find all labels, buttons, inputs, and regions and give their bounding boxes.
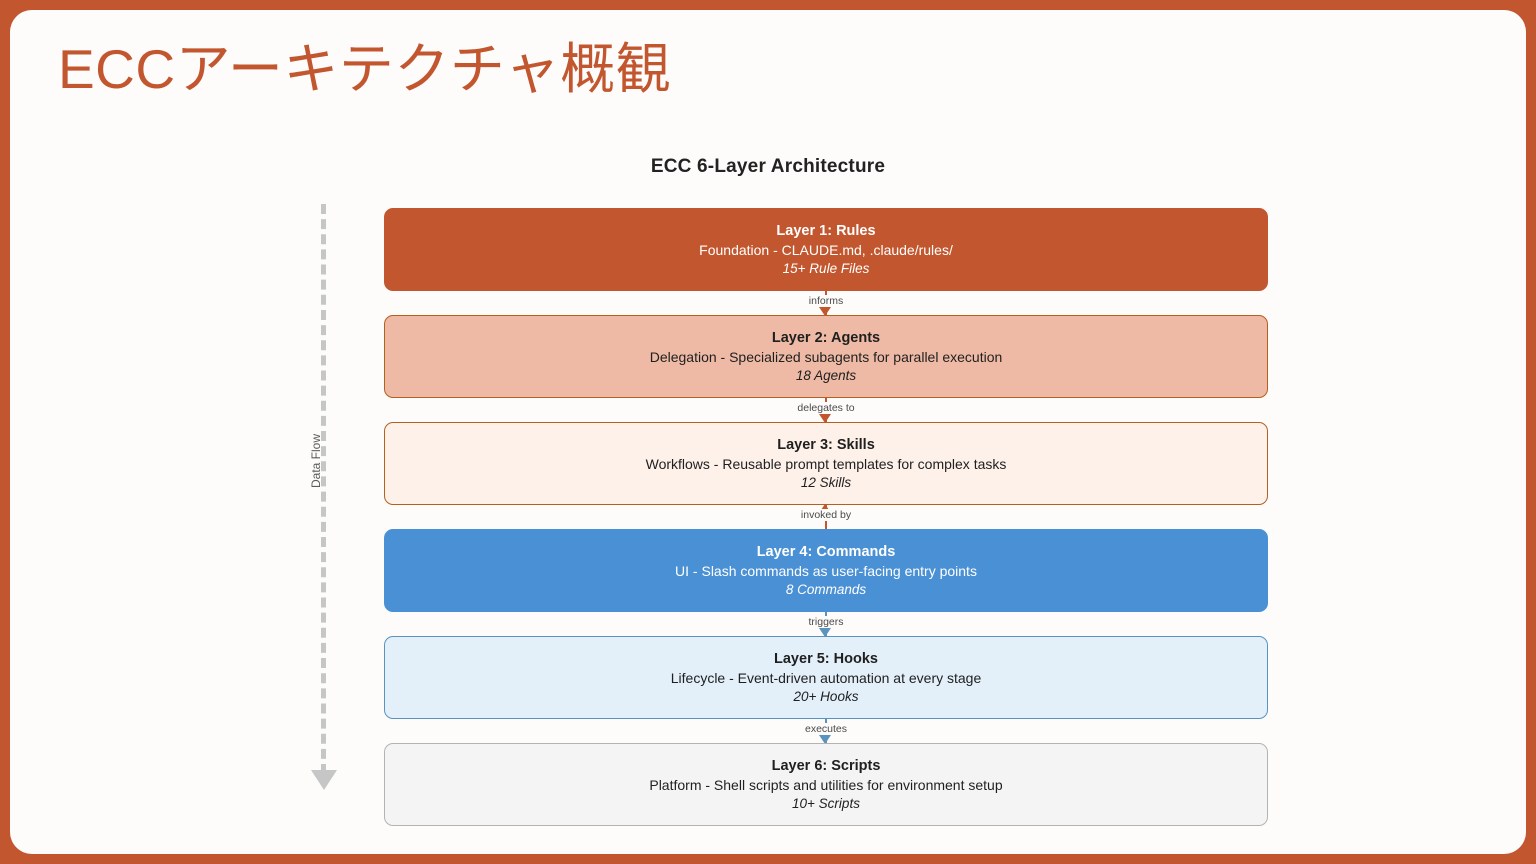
connector-label-text: executes: [801, 723, 851, 735]
connector-3: invoked by: [384, 505, 1268, 529]
layer-count: 12 Skills: [801, 474, 851, 492]
connector-4: triggers: [384, 612, 1268, 636]
layer-count: 20+ Hooks: [794, 688, 859, 706]
connector-5: executes: [384, 719, 1268, 743]
layer-box-2[interactable]: Layer 2: AgentsDelegation - Specialized …: [384, 315, 1268, 398]
layer-box-5[interactable]: Layer 5: HooksLifecycle - Event-driven a…: [384, 636, 1268, 719]
data-flow-arrow-icon: [311, 770, 337, 790]
connector-label: invoked by: [384, 509, 1268, 521]
figure-title: ECC 6-Layer Architecture: [10, 156, 1526, 178]
connector-label: triggers: [384, 616, 1268, 628]
layer-title: Layer 4: Commands: [757, 543, 896, 561]
layer-description: Delegation - Specialized subagents for p…: [650, 348, 1003, 366]
layer-description: Lifecycle - Event-driven automation at e…: [671, 669, 982, 687]
layer-box-1[interactable]: Layer 1: RulesFoundation - CLAUDE.md, .c…: [384, 208, 1268, 291]
layer-count: 18 Agents: [796, 367, 856, 385]
layer-title: Layer 2: Agents: [772, 329, 880, 347]
connector-label: delegates to: [384, 402, 1268, 414]
layer-title: Layer 1: Rules: [776, 222, 875, 240]
layer-title: Layer 5: Hooks: [774, 650, 878, 668]
connector-label-text: informs: [805, 295, 847, 307]
data-flow-label: Data Flow: [309, 416, 323, 506]
layer-title: Layer 3: Skills: [777, 436, 875, 454]
layer-box-3[interactable]: Layer 3: SkillsWorkflows - Reusable prom…: [384, 422, 1268, 505]
layer-description: UI - Slash commands as user-facing entry…: [675, 562, 977, 580]
connector-2: delegates to: [384, 398, 1268, 422]
slide-frame: ECCアーキテクチャ概観 ECC 6-Layer Architecture Da…: [0, 0, 1536, 864]
architecture-figure: ECC 6-Layer Architecture Data Flow Layer…: [10, 128, 1526, 828]
layer-count: 10+ Scripts: [792, 795, 860, 813]
data-flow-rail: Data Flow: [295, 204, 343, 804]
layer-title: Layer 6: Scripts: [772, 757, 881, 775]
connector-label: informs: [384, 295, 1268, 307]
page-title: ECCアーキテクチャ概観: [58, 34, 671, 104]
connector-label: executes: [384, 723, 1268, 735]
layer-box-4[interactable]: Layer 4: CommandsUI - Slash commands as …: [384, 529, 1268, 612]
layer-count: 8 Commands: [786, 581, 866, 599]
connector-1: informs: [384, 291, 1268, 315]
slide-canvas: ECCアーキテクチャ概観 ECC 6-Layer Architecture Da…: [10, 10, 1526, 854]
layer-description: Foundation - CLAUDE.md, .claude/rules/: [699, 241, 953, 259]
layer-box-6[interactable]: Layer 6: ScriptsPlatform - Shell scripts…: [384, 743, 1268, 826]
connector-label-text: invoked by: [797, 509, 855, 521]
layer-description: Platform - Shell scripts and utilities f…: [649, 776, 1002, 794]
connector-label-text: delegates to: [793, 402, 858, 414]
connector-label-text: triggers: [804, 616, 847, 628]
layer-stack: Layer 1: RulesFoundation - CLAUDE.md, .c…: [384, 208, 1268, 826]
layer-count: 15+ Rule Files: [783, 260, 870, 278]
layer-description: Workflows - Reusable prompt templates fo…: [646, 455, 1007, 473]
